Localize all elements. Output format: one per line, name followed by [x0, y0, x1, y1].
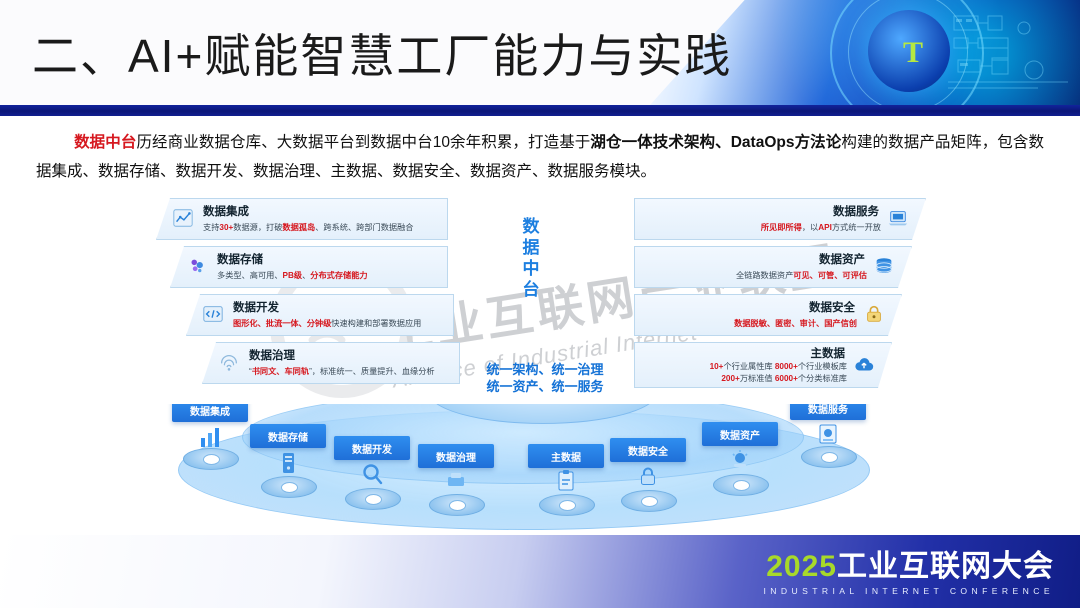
- page-title: 二、AI+赋能智慧工厂能力与实践: [32, 20, 732, 86]
- node-label: 主数据: [528, 444, 604, 468]
- chip-title: 数据安全: [809, 299, 855, 315]
- header-divider-bar: [0, 105, 1080, 116]
- chip-desc-line1: 10+个行业属性库 8000+个行业模板库: [710, 360, 847, 372]
- node-pad: [539, 494, 595, 516]
- chip-data-service[interactable]: 数据服务 所见即所得，以API方式统一开放: [634, 198, 926, 240]
- chip-data-development[interactable]: 数据开发 图形化、批流一体、分钟级快速构建和部署数据应用: [186, 294, 454, 336]
- center-char-3: 中: [518, 258, 544, 279]
- chip-desc: 图形化、批流一体、分钟级快速构建和部署数据应用: [233, 317, 421, 329]
- chip-desc: “书同文、车同轨”，标准统一、质量提升、血缘分析: [249, 365, 435, 377]
- code-develop-icon: [202, 303, 224, 325]
- masterdata-cloud-icon: [853, 354, 875, 376]
- chip-desc: 所见即所得，以API方式统一开放: [761, 221, 881, 233]
- chip-title: 数据存储: [217, 251, 263, 267]
- search-dev-icon: [359, 462, 385, 488]
- asset-database-icon: [873, 255, 895, 277]
- conference-year: 2025: [766, 550, 837, 583]
- center-char-2: 据: [518, 237, 544, 258]
- governance-icon: [443, 468, 469, 494]
- node-pad: [801, 446, 857, 468]
- chip-title: 数据治理: [249, 347, 295, 363]
- node-pad: [621, 490, 677, 512]
- node-label: 数据开发: [334, 436, 410, 460]
- node-label: 数据资产: [702, 422, 778, 446]
- governance-fingerprint-icon: [218, 351, 240, 373]
- conference-logo: 2025工业互联网大会 INDUSTRIAL INTERNET CONFEREN…: [763, 551, 1054, 596]
- chip-desc: 数据脱敏、匿密、审计、国产信创: [734, 317, 857, 329]
- paragraph-bold1: 湖仓一体技术架构、DataOps方法论: [590, 134, 841, 151]
- chip-desc-line2: 200+万标准值 6000+个分类标准库: [721, 372, 847, 384]
- slogan-line-2: 统一资产、统一服务: [455, 378, 635, 395]
- chip-title: 数据集成: [203, 203, 249, 219]
- node-label: 数据服务: [790, 404, 866, 420]
- clipboard-icon: [553, 468, 579, 494]
- storage-cluster-icon: [186, 255, 208, 277]
- node-pad: [429, 494, 485, 516]
- lock-icon: [635, 464, 661, 490]
- chip-data-storage[interactable]: 数据存储 多类型、高可用、PB级、分布式存储能力: [170, 246, 448, 288]
- chip-data-governance[interactable]: 数据治理 “书同文、车同轨”，标准统一、质量提升、血缘分析: [202, 342, 460, 384]
- node-pad: [183, 448, 239, 470]
- conference-name-en: INDUSTRIAL INTERNET CONFERENCE: [763, 586, 1054, 596]
- chip-data-integration[interactable]: 数据集成 支持30+数据源，打破数据孤岛、跨系统、跨部门数据融合: [156, 198, 448, 240]
- chip-title: 数据资产: [819, 251, 865, 267]
- node-pad: [345, 488, 401, 510]
- chip-master-data[interactable]: 主数据 10+个行业属性库 8000+个行业模板库 200+万标准值 6000+…: [634, 342, 892, 388]
- security-lock-icon: [863, 303, 885, 325]
- conference-name-cn: 工业互联网大会: [837, 550, 1054, 583]
- server-icon: [275, 450, 301, 476]
- chip-title: 数据服务: [833, 203, 879, 219]
- chip-data-security[interactable]: 数据安全 数据脱敏、匿密、审计、国产信创: [634, 294, 902, 336]
- node-label: 数据存储: [250, 424, 326, 448]
- asset-icon: [727, 448, 753, 474]
- chip-desc: 全链路数据资产可见、可管、可评估: [736, 269, 867, 281]
- chip-title: 数据开发: [233, 299, 279, 315]
- chip-title: 主数据: [811, 345, 846, 361]
- node-label: 数据安全: [610, 438, 686, 462]
- node-pad: [261, 476, 317, 498]
- chip-desc: 支持30+数据源，打破数据孤岛、跨系统、跨部门数据融合: [203, 221, 413, 233]
- slide-header: T 二、AI+赋能智慧工厂能力与实践: [0, 0, 1080, 105]
- slide-footer: 2025工业互联网大会 INDUSTRIAL INTERNET CONFEREN…: [0, 535, 1080, 608]
- node-label: 数据集成: [172, 404, 248, 422]
- center-vertical-title: 数 据 中 台: [518, 216, 544, 300]
- bar-chart-icon: [197, 424, 223, 450]
- paragraph-seg1: 历经商业数据仓库、大数据平台到数据中台10余年积累，打造基于: [136, 134, 590, 151]
- chart-integration-icon: [172, 207, 194, 229]
- paragraph-lead: 数据中台: [74, 134, 136, 151]
- slogan-line-1: 统一架构、统一治理: [455, 361, 635, 378]
- chip-desc: 多类型、高可用、PB级、分布式存储能力: [217, 269, 368, 281]
- intro-paragraph: 数据中台历经商业数据仓库、大数据平台到数据中台10余年积累，打造基于湖仓一体技术…: [36, 128, 1044, 186]
- node-pad: [713, 474, 769, 496]
- platform-ring: 数据集成 数据存储 数据开发 数据治理: [150, 404, 930, 536]
- header-logo-letter: T: [903, 36, 922, 70]
- document-service-icon: [815, 422, 841, 448]
- service-laptop-icon: [887, 207, 909, 229]
- data-platform-diagram: 工业互联网产业联盟 Alliance of Industrial Interne…: [150, 196, 930, 536]
- center-slogan: 统一架构、统一治理 统一资产、统一服务: [455, 361, 635, 395]
- center-char-1: 数: [518, 216, 544, 237]
- chip-data-asset[interactable]: 数据资产 全链路数据资产可见、可管、可评估: [634, 246, 912, 288]
- center-char-4: 台: [518, 279, 544, 300]
- paragraph-seg2: 构建的: [841, 134, 888, 151]
- conference-name: 2025工业互联网大会: [763, 551, 1054, 583]
- node-label: 数据治理: [418, 444, 494, 468]
